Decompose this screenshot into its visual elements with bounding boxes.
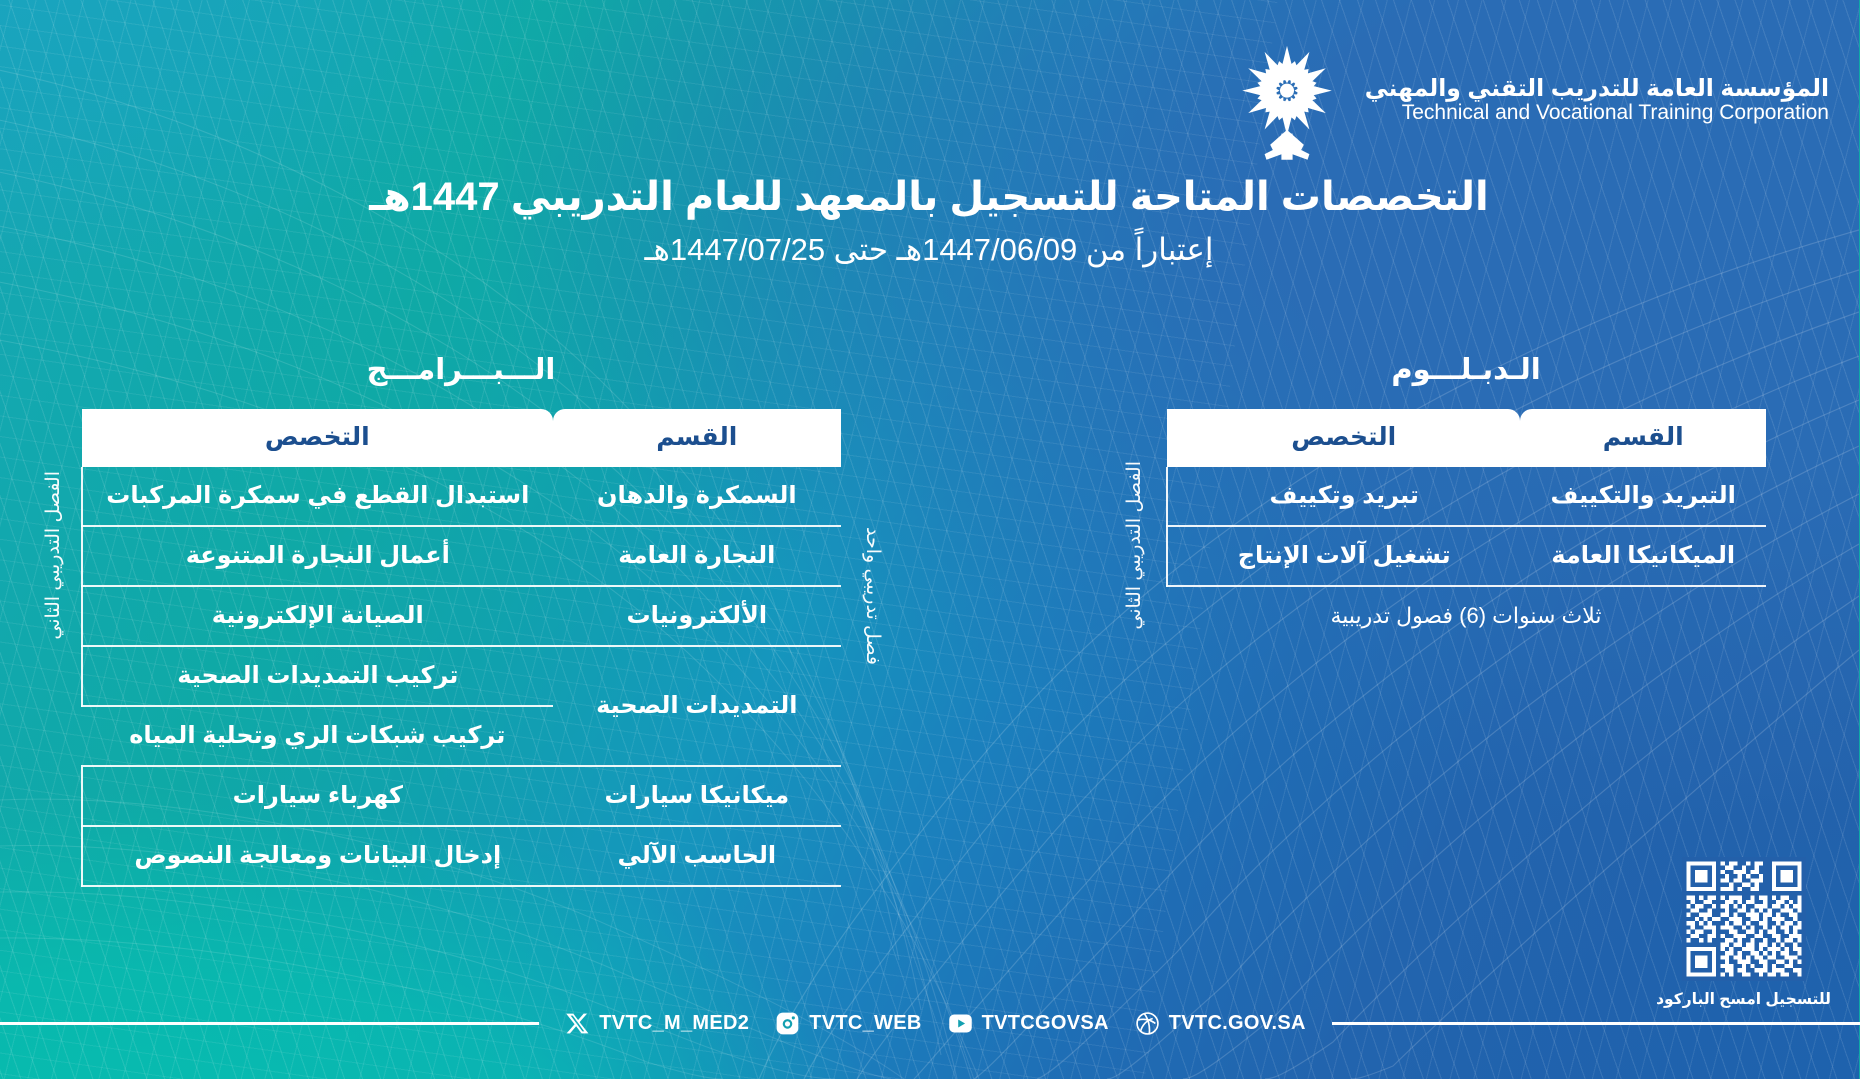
table-row: النجارة العامة أعمال النجارة المتنوعة <box>83 526 842 586</box>
table-row: السمكرة والدهان استبدال القطع في سمكرة ا… <box>83 467 842 526</box>
cell-qism: الميكانيكا العامة <box>1521 526 1767 586</box>
cell-takhassus: تركيب التمديدات الصحية <box>83 646 554 706</box>
cell-takhassus: استبدال القطع في سمكرة المركبات <box>83 467 554 526</box>
cell-takhassus: تركيب شبكات الري وتحلية المياه <box>83 706 554 766</box>
tvtc-logo: المؤسسة العامة للتدريب التقني والمهني Te… <box>1232 40 1830 160</box>
social-handle: TVTCGOVSA <box>983 1012 1110 1035</box>
cell-qism: الألكترونيات <box>554 586 842 646</box>
programs-table: القسم التخصص السمكرة والدهان استبدال الق… <box>82 409 842 887</box>
footer-divider-left <box>1333 1022 1860 1025</box>
programs-table-wrap: القسم التخصص السمكرة والدهان استبدال الق… <box>82 409 842 887</box>
page-title: التخصصات المتاحة للتسجيل بالمعهد للعام ا… <box>0 174 1860 220</box>
social-link-youtube[interactable]: TVTCGOVSA <box>949 1011 1110 1036</box>
social-link-instagram[interactable]: TVTC_WEB <box>776 1011 922 1036</box>
x-twitter-icon <box>566 1011 591 1036</box>
cell-takhassus: تبريد وتكييف <box>1168 467 1521 526</box>
cell-qism: النجارة العامة <box>554 526 842 586</box>
cell-takhassus: أعمال النجارة المتنوعة <box>83 526 554 586</box>
cell-qism: السمكرة والدهان <box>554 467 842 526</box>
page-subtitle: إعتباراً من 1447/06/09هـ حتى 1447/07/25ه… <box>0 232 1860 268</box>
qr-block[interactable]: للتسجيل امسح الباركود <box>1657 857 1832 1009</box>
cell-takhassus: كهرباء سيارات <box>83 766 554 826</box>
programs-side-label-single-term: فصل تدريبي واحد <box>862 527 884 665</box>
programs-table-body: السمكرة والدهان استبدال القطع في سمكرة ا… <box>83 467 842 886</box>
cell-takhassus: الصيانة الإلكترونية <box>83 586 554 646</box>
programs-table-header-row: القسم التخصص <box>83 409 842 467</box>
logo-name-arabic: المؤسسة العامة للتدريب التقني والمهني <box>1366 75 1830 102</box>
social-handle: TVTC.GOV.SA <box>1170 1012 1307 1035</box>
youtube-icon <box>949 1011 974 1036</box>
cell-qism: التبريد والتكييف <box>1521 467 1767 526</box>
programs-section-title: الـــبـــرامـــج <box>82 352 842 387</box>
table-row: التمديدات الصحية تركيب التمديدات الصحية <box>83 646 842 706</box>
table-row: ميكانيكا سيارات كهرباء سيارات <box>83 766 842 826</box>
table-row: الحاسب الآلي إدخال البيانات ومعالجة النص… <box>83 826 842 886</box>
table-row: الألكترونيات الصيانة الإلكترونية <box>83 586 842 646</box>
logo-text-block: المؤسسة العامة للتدريب التقني والمهني Te… <box>1366 75 1830 126</box>
diploma-section: الـدبـلـــوم القسم التخصص التبريد والتكي… <box>1167 352 1767 629</box>
diploma-table: القسم التخصص التبريد والتكييف تبريد وتكي… <box>1167 409 1767 587</box>
social-link-x[interactable]: TVTC_M_MED2 <box>566 1011 750 1036</box>
diploma-col-header-qism: القسم <box>1521 409 1767 467</box>
diploma-table-header-row: القسم التخصص <box>1168 409 1767 467</box>
cell-takhassus: تشغيل آلات الإنتاج <box>1168 526 1521 586</box>
diploma-table-wrap: القسم التخصص التبريد والتكييف تبريد وتكي… <box>1167 409 1767 587</box>
programs-col-header-qism: القسم <box>554 409 842 467</box>
table-row: الميكانيكا العامة تشغيل آلات الإنتاج <box>1168 526 1767 586</box>
table-row: التبريد والتكييف تبريد وتكييف <box>1168 467 1767 526</box>
diploma-side-label-term-two: الفصل التدريبي الثاني <box>1125 461 1147 630</box>
social-handle: TVTC_WEB <box>810 1012 922 1035</box>
diploma-duration-note: ثلاث سنوات (6) فصول تدريبية <box>1167 603 1767 629</box>
programs-side-label-term-two: الفصل التدريبي الثاني <box>44 471 66 640</box>
footer-divider-right <box>0 1022 540 1025</box>
cell-qism: الحاسب الآلي <box>554 826 842 886</box>
diploma-table-body: التبريد والتكييف تبريد وتكييف الميكانيكا… <box>1168 467 1767 586</box>
footer-bar: TVTC_M_MED2 TVTC_WEB TVTCGOVSA <box>0 1003 1860 1043</box>
qr-code-icon[interactable] <box>1683 857 1807 981</box>
social-link-website[interactable]: TVTC.GOV.SA <box>1136 1011 1307 1036</box>
cell-takhassus: إدخال البيانات ومعالجة النصوص <box>83 826 554 886</box>
tvtc-palm-star-logo-icon <box>1232 40 1344 160</box>
cell-qism: ميكانيكا سيارات <box>554 766 842 826</box>
globe-website-icon <box>1136 1011 1161 1036</box>
programs-section: الـــبـــرامـــج القسم التخصص السمكرة وا… <box>82 352 842 887</box>
logo-name-english: Technical and Vocational Training Corpor… <box>1366 101 1830 125</box>
cell-qism-merged: التمديدات الصحية <box>554 646 842 766</box>
footer-social-list: TVTC_M_MED2 TVTC_WEB TVTCGOVSA <box>540 1011 1333 1036</box>
diploma-col-header-takhassus: التخصص <box>1168 409 1521 467</box>
programs-col-header-takhassus: التخصص <box>83 409 554 467</box>
social-handle: TVTC_M_MED2 <box>600 1012 750 1035</box>
instagram-icon <box>776 1011 801 1036</box>
diploma-section-title: الـدبـلـــوم <box>1167 352 1767 387</box>
